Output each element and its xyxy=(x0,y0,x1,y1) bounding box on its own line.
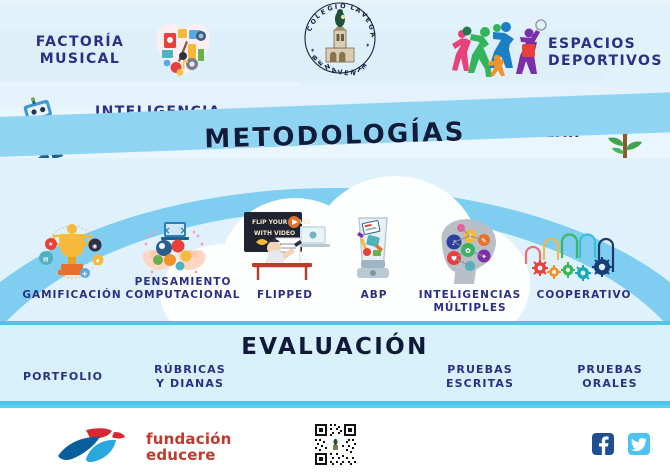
svg-text:▤: ▤ xyxy=(43,256,49,263)
methodology-line2: MÚLTIPLES xyxy=(412,302,528,315)
trophy-gamification-icon: ★ ▤ ◉ ♦ ✚ xyxy=(38,222,106,282)
music-heart-icon xyxy=(150,16,216,78)
brain-multiple-intelligences-icon: ♪?✎ ✿✦♥ xyxy=(430,214,506,286)
evaluation-line1: RÚBRICAS xyxy=(138,363,242,377)
svg-text:A: A xyxy=(330,66,337,75)
evaluation-item-pruebas-escritas: PRUEBAS ESCRITAS xyxy=(428,363,532,391)
evaluation-line1: PORTFOLIO xyxy=(8,370,118,384)
feature-label-espacios-deportivos: ESPACIOS DEPORTIVOS xyxy=(548,36,668,70)
school-seal-logo: C O L E G I O L A V E G A * * B E N A V xyxy=(292,2,388,80)
svg-text:✦: ✦ xyxy=(481,253,487,261)
evaluation-line1: PRUEBAS xyxy=(428,363,532,377)
svg-text:E: E xyxy=(344,69,349,77)
methodology-line1: COOPERATIVO xyxy=(528,289,640,302)
infographic-poster: C O L E G I O L A V E G A * * B E N A V xyxy=(0,0,670,474)
svg-text:G: G xyxy=(327,4,334,13)
evaluation-title: EVALUACIÓN xyxy=(0,334,670,360)
svg-text:A: A xyxy=(368,31,377,39)
svg-text:♥: ♥ xyxy=(451,255,457,263)
feature-line1: ESPACIOS xyxy=(548,36,668,53)
sports-athletes-icon xyxy=(440,14,550,82)
svg-text:♦: ♦ xyxy=(95,258,100,265)
evaluation-line2: Y DIANAS xyxy=(138,377,242,391)
evaluation-top-divider xyxy=(0,321,670,325)
flipped-classroom-icon: FLIP YOUR CLASS WITH VIDEO xyxy=(240,208,332,284)
methodology-label-inteligencias-multiples: INTELIGENCIAS MÚLTIPLES xyxy=(412,289,528,315)
svg-text:V: V xyxy=(337,68,343,76)
svg-text:★: ★ xyxy=(48,241,53,248)
fundacion-educere-wordmark: fundación educere xyxy=(146,431,232,463)
methodology-label-gamificacion: GAMIFICACIÓN xyxy=(14,289,130,302)
feature-line2: DEPORTIVOS xyxy=(548,53,668,70)
svg-text:♪: ♪ xyxy=(452,239,456,247)
evaluation-line1: PRUEBAS xyxy=(558,363,662,377)
methodology-line1: FLIPPED xyxy=(246,289,324,302)
feature-label-factoria-musical: FACTORÍA MUSICAL xyxy=(20,34,140,68)
footer-top-divider xyxy=(0,405,670,408)
svg-text:✚: ✚ xyxy=(82,271,87,278)
twitter-icon[interactable] xyxy=(628,433,650,455)
evaluation-item-rubricas-dianas: RÚBRICAS Y DIANAS xyxy=(138,363,242,391)
svg-text:*: * xyxy=(365,42,374,49)
project-blender-icon xyxy=(345,214,403,284)
svg-text:FLIP YOUR CLASS: FLIP YOUR CLASS xyxy=(252,219,311,226)
brand-line-2: educere xyxy=(146,447,232,463)
methodology-line2: COMPUTACIONAL xyxy=(122,289,244,302)
methodology-label-cooperativo: COOPERATIVO xyxy=(528,289,640,302)
methodology-line1: ABP xyxy=(340,289,408,302)
evaluation-line2: ORALES xyxy=(558,377,662,391)
brand-line-1: fundación xyxy=(146,431,232,447)
svg-text:◉: ◉ xyxy=(92,243,97,250)
svg-text:I: I xyxy=(334,3,337,11)
methodology-label-flipped: FLIPPED xyxy=(246,289,324,302)
svg-text:✎: ✎ xyxy=(481,237,487,245)
methodology-line1: GAMIFICACIÓN xyxy=(14,289,130,302)
svg-text:E: E xyxy=(320,8,327,17)
svg-text:?: ? xyxy=(468,233,472,241)
methodology-line1: PENSAMIENTO xyxy=(122,276,244,289)
evaluation-item-portfolio: PORTFOLIO xyxy=(8,370,118,384)
svg-text:*: * xyxy=(307,48,316,55)
methodology-label-pensamiento-computacional: PENSAMIENTO COMPUTACIONAL xyxy=(122,276,244,302)
methodology-line1: INTELIGENCIAS xyxy=(412,289,528,302)
fundacion-educere-logo-mark xyxy=(56,426,138,466)
svg-text:✿: ✿ xyxy=(465,247,471,255)
gears-people-cooperative-icon xyxy=(520,226,626,282)
feature-line1: FACTORÍA xyxy=(20,34,140,51)
svg-text:O: O xyxy=(340,2,346,10)
facebook-icon[interactable] xyxy=(592,433,614,455)
evaluation-item-pruebas-orales: PRUEBAS ORALES xyxy=(558,363,662,391)
svg-text:WITH VIDEO: WITH VIDEO xyxy=(254,230,295,237)
hands-coding-icon xyxy=(138,216,210,282)
evaluation-line2: ESCRITAS xyxy=(428,377,532,391)
methodology-label-abp: ABP xyxy=(340,289,408,302)
qr-code[interactable] xyxy=(313,422,358,467)
feature-line2: MUSICAL xyxy=(20,51,140,68)
